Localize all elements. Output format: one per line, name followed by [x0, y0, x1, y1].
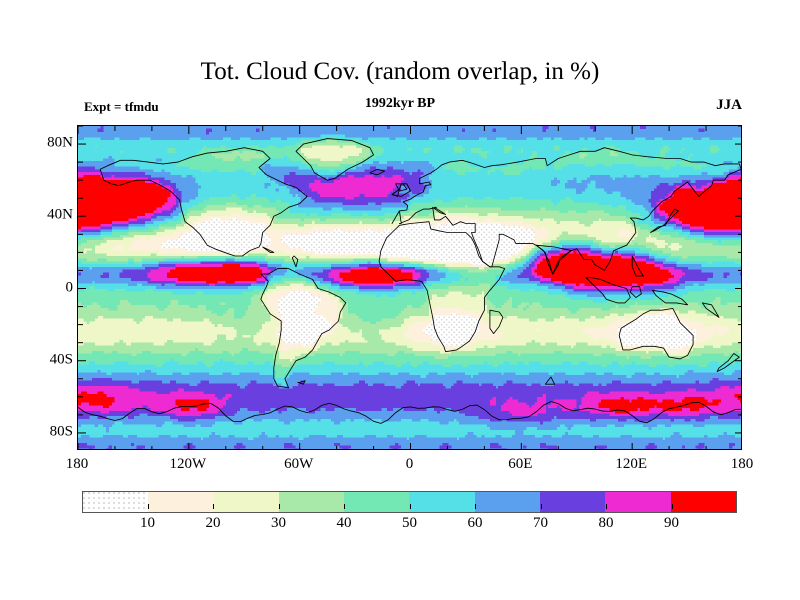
- y-tick-40S: 40S: [50, 351, 73, 368]
- x-tick-60E: 60E: [508, 456, 532, 473]
- colorbar-bin-70-80: [540, 492, 605, 512]
- page-title: Tot. Cloud Cov. (random overlap, in %): [0, 58, 800, 86]
- colorbar-tickmark: [279, 504, 280, 509]
- colorbar-bin-20-30: [214, 492, 279, 512]
- colorbar-tick-30: 30: [271, 515, 286, 532]
- colorbar-tick-80: 80: [599, 515, 614, 532]
- colorbar-tickmark: [148, 504, 149, 509]
- colorbar-tickmark: [672, 504, 673, 509]
- colorbar-tickmark: [213, 504, 214, 509]
- colorbar-tick-70: 70: [533, 515, 548, 532]
- y-axis-labels: 80N40N040S80S: [0, 125, 800, 450]
- colorbar-tickmark: [606, 504, 607, 509]
- colorbar-bin-40-50: [344, 492, 409, 512]
- colorbar-bin-30-40: [279, 492, 344, 512]
- x-tick-0: 0: [406, 456, 414, 473]
- colorbar-bin-80-90: [605, 492, 670, 512]
- colorbar-tick-20: 20: [206, 515, 221, 532]
- colorbar-tick-50: 50: [402, 515, 417, 532]
- colorbar-tickmark: [541, 504, 542, 509]
- colorbar-bin-50-60: [409, 492, 474, 512]
- colorbar-bin-90-100: [671, 492, 736, 512]
- x-tick-180: 180: [66, 456, 89, 473]
- x-tick-180: 180: [731, 456, 754, 473]
- y-tick-80S: 80S: [50, 423, 73, 440]
- x-axis-labels: 180120W60W060E120E180: [0, 456, 800, 480]
- colorbar: [82, 491, 737, 513]
- colorbar-bin-10-20: [148, 492, 213, 512]
- x-tick-120W: 120W: [169, 456, 206, 473]
- colorbar-tick-60: 60: [468, 515, 483, 532]
- y-tick-40N: 40N: [47, 207, 73, 224]
- experiment-label: Expt = tfmdu: [84, 99, 159, 115]
- colorbar-tick-labels: 102030405060708090: [0, 513, 800, 537]
- colorbar-tickmark: [344, 504, 345, 509]
- season-label: JJA: [716, 97, 742, 114]
- y-tick-80N: 80N: [47, 135, 73, 152]
- colorbar-bin-60-70: [475, 492, 540, 512]
- y-tick-0: 0: [66, 279, 74, 296]
- colorbar-tickmark: [410, 504, 411, 509]
- colorbar-bin-0-10: [83, 492, 148, 512]
- colorbar-tick-90: 90: [664, 515, 679, 532]
- colorbar-tick-10: 10: [140, 515, 155, 532]
- figure-canvas: Tot. Cloud Cov. (random overlap, in %) 1…: [0, 0, 800, 600]
- x-tick-120E: 120E: [615, 456, 647, 473]
- colorbar-tick-40: 40: [337, 515, 352, 532]
- x-tick-60W: 60W: [284, 456, 313, 473]
- colorbar-tickmark: [475, 504, 476, 509]
